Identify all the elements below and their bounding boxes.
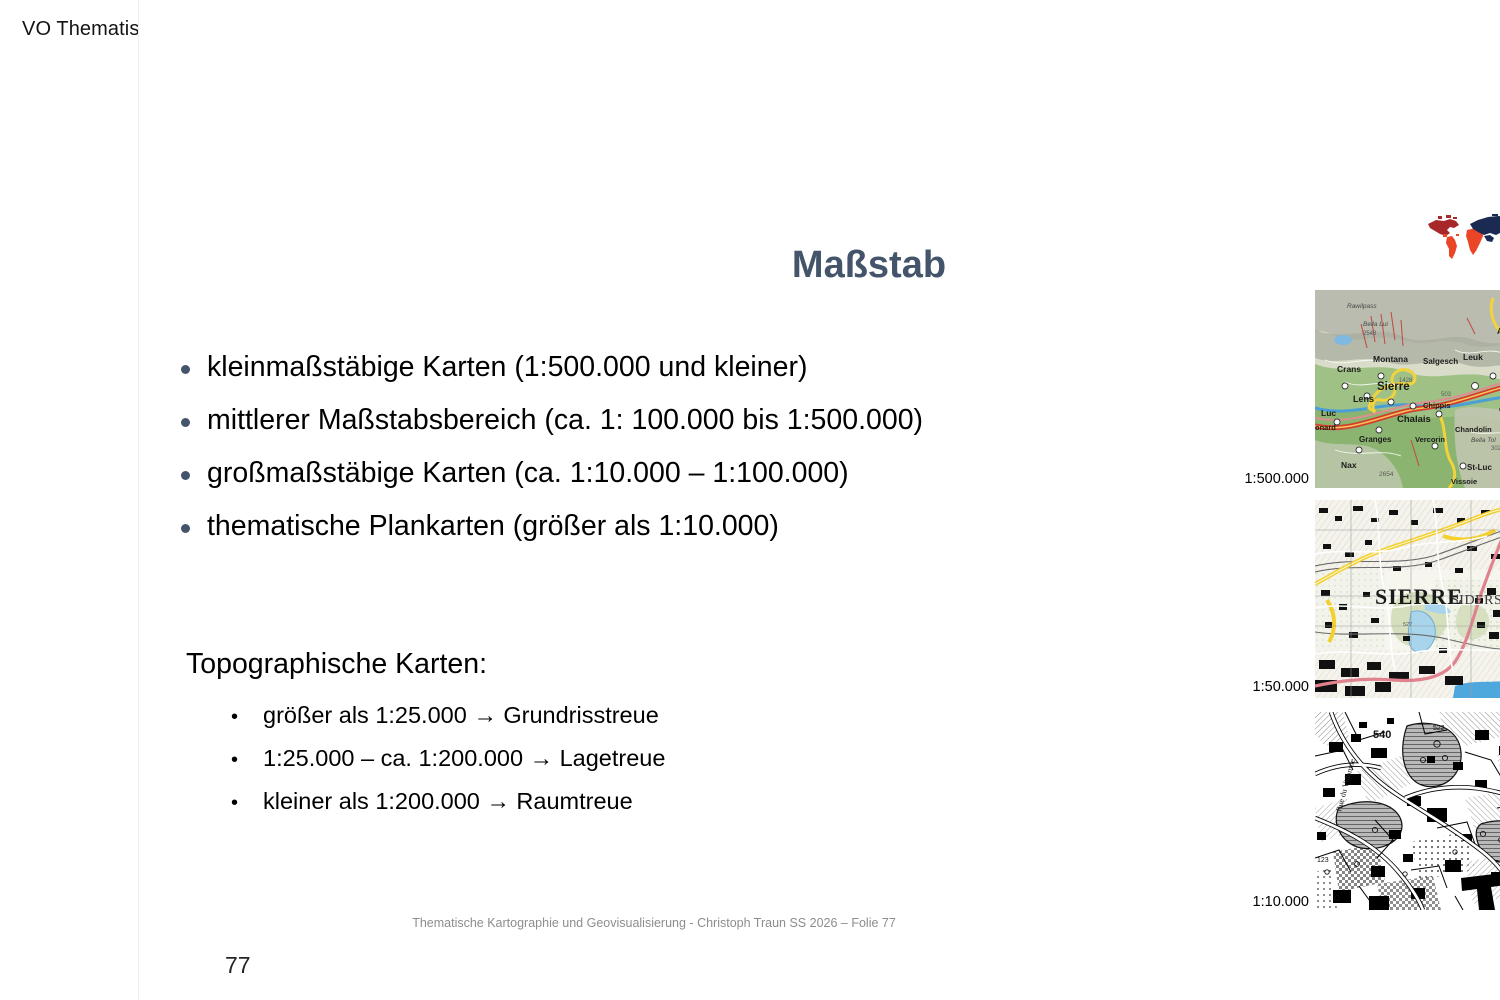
svg-text:Chippis: Chippis — [1423, 401, 1451, 410]
svg-text:522: 522 — [1433, 725, 1445, 732]
svg-text:St-Luc: St-Luc — [1467, 463, 1492, 472]
svg-text:Salgesch: Salgesch — [1423, 357, 1458, 366]
list-item-label: großmaßstäbige Karten (ca. 1:10.000 – 1:… — [207, 458, 849, 490]
slide-footer-text: Thematische Kartographie und Geovisualis… — [139, 916, 1169, 930]
svg-text:Chalais: Chalais — [1397, 414, 1431, 425]
list-item: thematische Plankarten (größer als 1:10.… — [181, 511, 1131, 543]
list-item: großmaßstäbige Karten (ca. 1:10.000 – 1:… — [181, 458, 1131, 490]
svg-text:2654: 2654 — [1379, 471, 1394, 478]
bullet-marker-icon — [181, 409, 207, 431]
svg-text:540: 540 — [1373, 729, 1391, 741]
bullet-marker-icon: • — [231, 707, 263, 727]
svg-text:527: 527 — [1403, 622, 1412, 628]
scale-label-500000: 1:500.000 — [1214, 471, 1309, 487]
bullet-marker-icon — [181, 515, 207, 537]
svg-text:2548: 2548 — [1363, 331, 1377, 337]
svg-text:1428: 1428 — [1399, 378, 1413, 384]
bullet-marker-icon — [181, 462, 207, 484]
svg-text:Montana: Montana — [1373, 354, 1408, 364]
svg-text:Granges: Granges — [1359, 435, 1392, 444]
list-item-label: größer als 1:25.000 → Grundrisstreue — [263, 703, 659, 729]
list-item: • größer als 1:25.000 → Grundrisstreue — [186, 703, 1046, 729]
svg-text:Bella Lui: Bella Lui — [1363, 321, 1388, 328]
page-number: 77 — [225, 952, 251, 979]
bullet-marker-icon — [181, 356, 207, 378]
svg-text:3025: 3025 — [1491, 446, 1500, 452]
svg-text:onard: onard — [1315, 423, 1336, 432]
main-bullet-list: kleinmaßstäbige Karten (1:500.000 und kl… — [181, 352, 1131, 564]
page-title: Maßstab — [669, 244, 1069, 287]
list-item: • kleiner als 1:200.000 → Raumtreue — [186, 789, 1046, 815]
svg-text:Lens: Lens — [1353, 394, 1374, 404]
svg-text:Bella Tol: Bella Tol — [1471, 437, 1496, 444]
list-item: kleinmaßstäbige Karten (1:500.000 und kl… — [181, 352, 1131, 384]
svg-text:Nax: Nax — [1341, 460, 1357, 470]
svg-text:Vercorin: Vercorin — [1415, 435, 1445, 444]
list-item: mittlerer Maßstabsbereich (ca. 1: 100.00… — [181, 405, 1131, 437]
bullet-marker-icon: • — [231, 750, 263, 770]
svg-text:Rawilpass: Rawilpass — [1347, 303, 1377, 310]
list-item-label: kleinmaßstäbige Karten (1:500.000 und kl… — [207, 352, 807, 384]
svg-text:123: 123 — [1317, 857, 1329, 864]
svg-text:Leuk: Leuk — [1463, 352, 1483, 362]
svg-text:Vissoie: Vissoie — [1451, 477, 1477, 486]
topographic-maps-section: Topographische Karten: • größer als 1:25… — [186, 648, 1046, 832]
map-thumbnail-500000: Rawilpass Bella Lui 2548 Montana Salgesc… — [1315, 290, 1500, 488]
section-heading: Topographische Karten: — [186, 648, 1046, 681]
list-item-label: thematische Plankarten (größer als 1:10.… — [207, 511, 779, 543]
bullet-marker-icon: • — [231, 793, 263, 813]
map-thumbnail-10000: 540 522 123 Rue du Vidomne — [1315, 712, 1500, 910]
scale-label-50000: 1:50.000 — [1214, 679, 1309, 695]
svg-text:SIERRE: SIERRE — [1375, 584, 1463, 609]
svg-text:Chandolin: Chandolin — [1455, 425, 1492, 434]
slide-canvas: Maßstab kleinmaßstäbige Karten (1:500.00… — [138, 0, 1500, 1000]
scale-label-10000: 1:10.000 — [1214, 894, 1309, 910]
list-item: • 1:25.000 – ca. 1:200.000 → Lagetreue — [186, 746, 1046, 772]
map-thumbnail-50000: SIERRE SIDERS 527 533 — [1315, 500, 1500, 698]
svg-text:Crans: Crans — [1337, 364, 1361, 374]
svg-text:Luc: Luc — [1321, 408, 1336, 418]
list-item-label: 1:25.000 – ca. 1:200.000 → Lagetreue — [263, 746, 665, 772]
list-item-label: kleiner als 1:200.000 → Raumtreue — [263, 789, 633, 815]
world-map-logo-icon — [1426, 212, 1500, 264]
svg-text:503: 503 — [1441, 392, 1452, 398]
list-item-label: mittlerer Maßstabsbereich (ca. 1: 100.00… — [207, 405, 923, 437]
svg-text:SIDERS: SIDERS — [1451, 593, 1500, 608]
